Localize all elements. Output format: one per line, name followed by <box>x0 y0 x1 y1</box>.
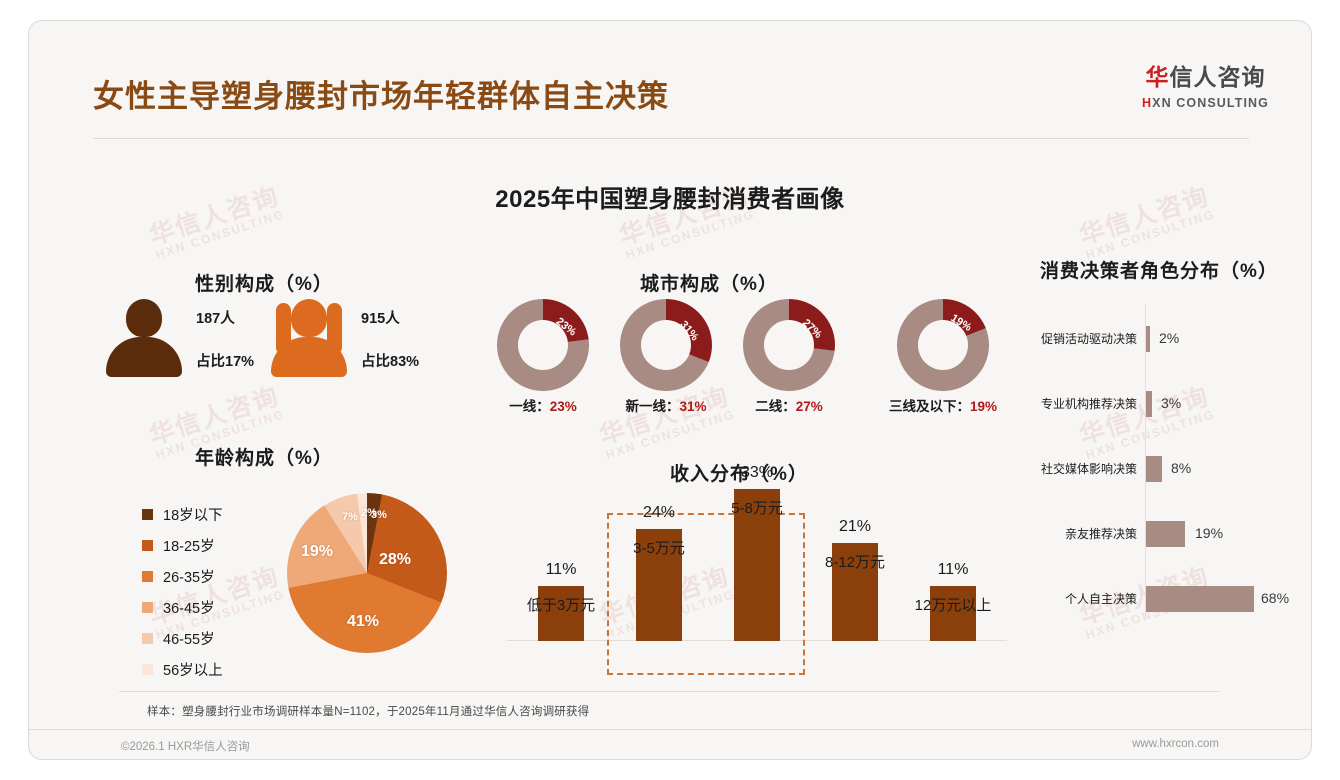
watermark-en: HXN CONSULTING <box>1084 208 1216 262</box>
city-section-title: 城市构成（%） <box>499 269 919 296</box>
age-pie-chart: 28% 41% 19% 7% 2% 3% <box>287 493 447 653</box>
pie-label-26-35: 41% <box>347 613 379 631</box>
logo-en-accent: H <box>1142 96 1152 110</box>
legend-item: 18-25岁 <box>142 530 223 561</box>
gender-male-block: 187人 占比17% <box>104 299 184 377</box>
watermark-en: HXN CONSULTING <box>604 408 736 462</box>
age-pie-legend: 18岁以下 18-25岁 26-35岁 36-45岁 46-55岁 56岁以上 <box>142 499 223 685</box>
income-value: 11% <box>905 561 1001 579</box>
donut-label-text: 新一线： <box>625 399 679 414</box>
donut-label-text: 二线： <box>755 399 796 414</box>
source-note: 样本：塑身腰封行业市场调研样本量N=1102，于2025年11月通过华信人咨询调… <box>147 703 589 719</box>
income-value: 21% <box>807 518 903 536</box>
income-category: 低于3万元 <box>507 594 615 615</box>
company-logo: 华信人咨询 HXN CONSULTING <box>1142 58 1269 110</box>
gender-female-text: 915人 占比83% <box>361 307 491 371</box>
income-value: 33% <box>709 464 805 482</box>
decision-label: 亲友推荐决策 <box>1019 525 1137 542</box>
watermark-en: HXN CONSULTING <box>154 208 286 262</box>
legend-swatch <box>142 602 153 613</box>
legend-label: 18岁以下 <box>163 504 223 525</box>
decision-row: 促销活动驱动决策 2% <box>1019 326 1299 352</box>
donut-group-tier3: 19% 三线及以下：19% <box>897 299 989 391</box>
decision-bar-chart: 促销活动驱动决策 2% 专业机构推荐决策 3% 社交媒体影响决策 8% 亲友推荐… <box>1019 296 1299 626</box>
page-title: 女性主导塑身腰封市场年轻群体自主决策 <box>93 71 669 116</box>
decision-bar <box>1146 391 1152 417</box>
income-column: 21% 8-12万元 <box>807 543 903 641</box>
donut-label-text: 一线： <box>509 399 550 414</box>
legend-swatch <box>142 664 153 675</box>
legend-item: 26-35岁 <box>142 561 223 592</box>
donut-label-newtier1: 新一线：31% <box>625 395 706 415</box>
donut-group-tier2: 27% 二线：27% <box>743 299 835 391</box>
income-value: 11% <box>513 561 609 579</box>
donut-label-tier2: 二线：27% <box>755 395 823 415</box>
legend-label: 18-25岁 <box>163 535 215 556</box>
decision-bar <box>1146 586 1254 612</box>
pie-label-36-45: 19% <box>301 543 333 561</box>
pie-label-under-18: 3% <box>371 509 387 521</box>
decision-row: 社交媒体影响决策 8% <box>1019 456 1299 482</box>
header-divider <box>93 138 1249 139</box>
income-column: 33% 5-8万元 <box>709 489 805 641</box>
decision-value: 68% <box>1261 590 1289 606</box>
copyright-text: ©2026.1 HXR华信人咨询 <box>121 738 250 754</box>
decision-section-title: 消费决策者角色分布（%） <box>1019 256 1299 283</box>
donut-group-newtier1: 31% 新一线：31% <box>620 299 712 391</box>
income-category: 5-8万元 <box>703 497 811 518</box>
legend-swatch <box>142 571 153 582</box>
decision-label: 促销活动驱动决策 <box>1019 330 1137 347</box>
female-silhouette-icon <box>269 299 349 377</box>
income-column: 11% 12万元以上 <box>905 586 1001 641</box>
gender-female-share: 占比83% <box>361 350 491 371</box>
legend-item: 18岁以下 <box>142 499 223 530</box>
decision-value: 19% <box>1195 525 1223 541</box>
legend-label: 46-55岁 <box>163 628 215 649</box>
logo-en-rest: XN CONSULTING <box>1152 96 1269 110</box>
gender-female-block: 915人 占比83% <box>269 299 349 377</box>
gender-section-title: 性别构成（%） <box>99 269 429 296</box>
logo-en-text: HXN CONSULTING <box>1142 96 1269 110</box>
logo-cn-accent: 华 <box>1146 64 1170 90</box>
chart-subtitle: 2025年中国塑身腰封消费者画像 <box>29 179 1311 214</box>
decision-label: 专业机构推荐决策 <box>1019 395 1137 412</box>
age-section-title: 年龄构成（%） <box>99 443 429 470</box>
income-category: 12万元以上 <box>899 594 1007 615</box>
watermark-en: HXN CONSULTING <box>624 208 756 262</box>
decision-value: 8% <box>1171 460 1191 476</box>
watermark-cn: 华信人咨询 <box>596 383 733 450</box>
donut-label-tier1: 一线：23% <box>509 395 577 415</box>
legend-item: 56岁以上 <box>142 654 223 685</box>
legend-item: 36-45岁 <box>142 592 223 623</box>
decision-bar <box>1146 456 1162 482</box>
pie-label-46-55: 7% <box>342 511 358 523</box>
legend-swatch <box>142 540 153 551</box>
income-column: 24% 3-5万元 <box>611 529 707 641</box>
logo-cn-text: 华信人咨询 <box>1142 58 1269 92</box>
donut-label-value: 23% <box>550 399 577 414</box>
footer-divider <box>29 729 1311 730</box>
decision-bar <box>1146 326 1150 352</box>
decision-row: 个人自主决策 68% <box>1019 586 1299 612</box>
website-link[interactable]: www.hxrcon.com <box>1132 738 1219 750</box>
decision-value: 3% <box>1161 395 1181 411</box>
decision-value: 2% <box>1159 330 1179 346</box>
watermark-cn: 华信人咨询 <box>146 383 283 450</box>
legend-item: 46-55岁 <box>142 623 223 654</box>
pie-label-18-25: 28% <box>379 551 411 569</box>
legend-label: 26-35岁 <box>163 566 215 587</box>
male-silhouette-icon <box>104 299 184 377</box>
slide-header: 女性主导塑身腰封市场年轻群体自主决策 华信人咨询 HXN CONSULTING <box>29 21 1311 121</box>
decision-label: 个人自主决策 <box>1019 590 1137 607</box>
legend-label: 36-45岁 <box>163 597 215 618</box>
donut-label-value: 31% <box>679 399 706 414</box>
infographic-slide: 华信人咨询 HXN CONSULTING 华信人咨询 HXN CONSULTIN… <box>28 20 1312 760</box>
donut-label-value: 27% <box>796 399 823 414</box>
logo-cn-rest: 信人咨询 <box>1170 64 1266 90</box>
donut-label-value: 19% <box>970 399 997 414</box>
income-bar-chart: 11% 低于3万元 24% 3-5万元 33% 5-8万元 21% 8-12万元… <box>507 491 1007 681</box>
donut-chart: 23% <box>497 299 589 391</box>
decision-row: 亲友推荐决策 19% <box>1019 521 1299 547</box>
decision-bar <box>1146 521 1185 547</box>
income-category: 3-5万元 <box>605 537 713 558</box>
decision-label: 社交媒体影响决策 <box>1019 460 1137 477</box>
legend-label: 56岁以上 <box>163 659 223 680</box>
legend-swatch <box>142 509 153 520</box>
legend-swatch <box>142 633 153 644</box>
source-divider <box>119 691 1219 692</box>
income-category: 8-12万元 <box>801 551 909 572</box>
donut-label-text: 三线及以下： <box>889 399 970 414</box>
donut-group-tier1: 23% 一线：23% <box>497 299 589 391</box>
donut-chart: 19% <box>897 299 989 391</box>
income-value: 24% <box>611 504 707 522</box>
income-column: 11% 低于3万元 <box>513 586 609 641</box>
donut-chart: 31% <box>620 299 712 391</box>
donut-label-tier3: 三线及以下：19% <box>889 395 997 415</box>
decision-row: 专业机构推荐决策 3% <box>1019 391 1299 417</box>
donut-chart: 27% <box>743 299 835 391</box>
gender-female-count: 915人 <box>361 307 491 328</box>
